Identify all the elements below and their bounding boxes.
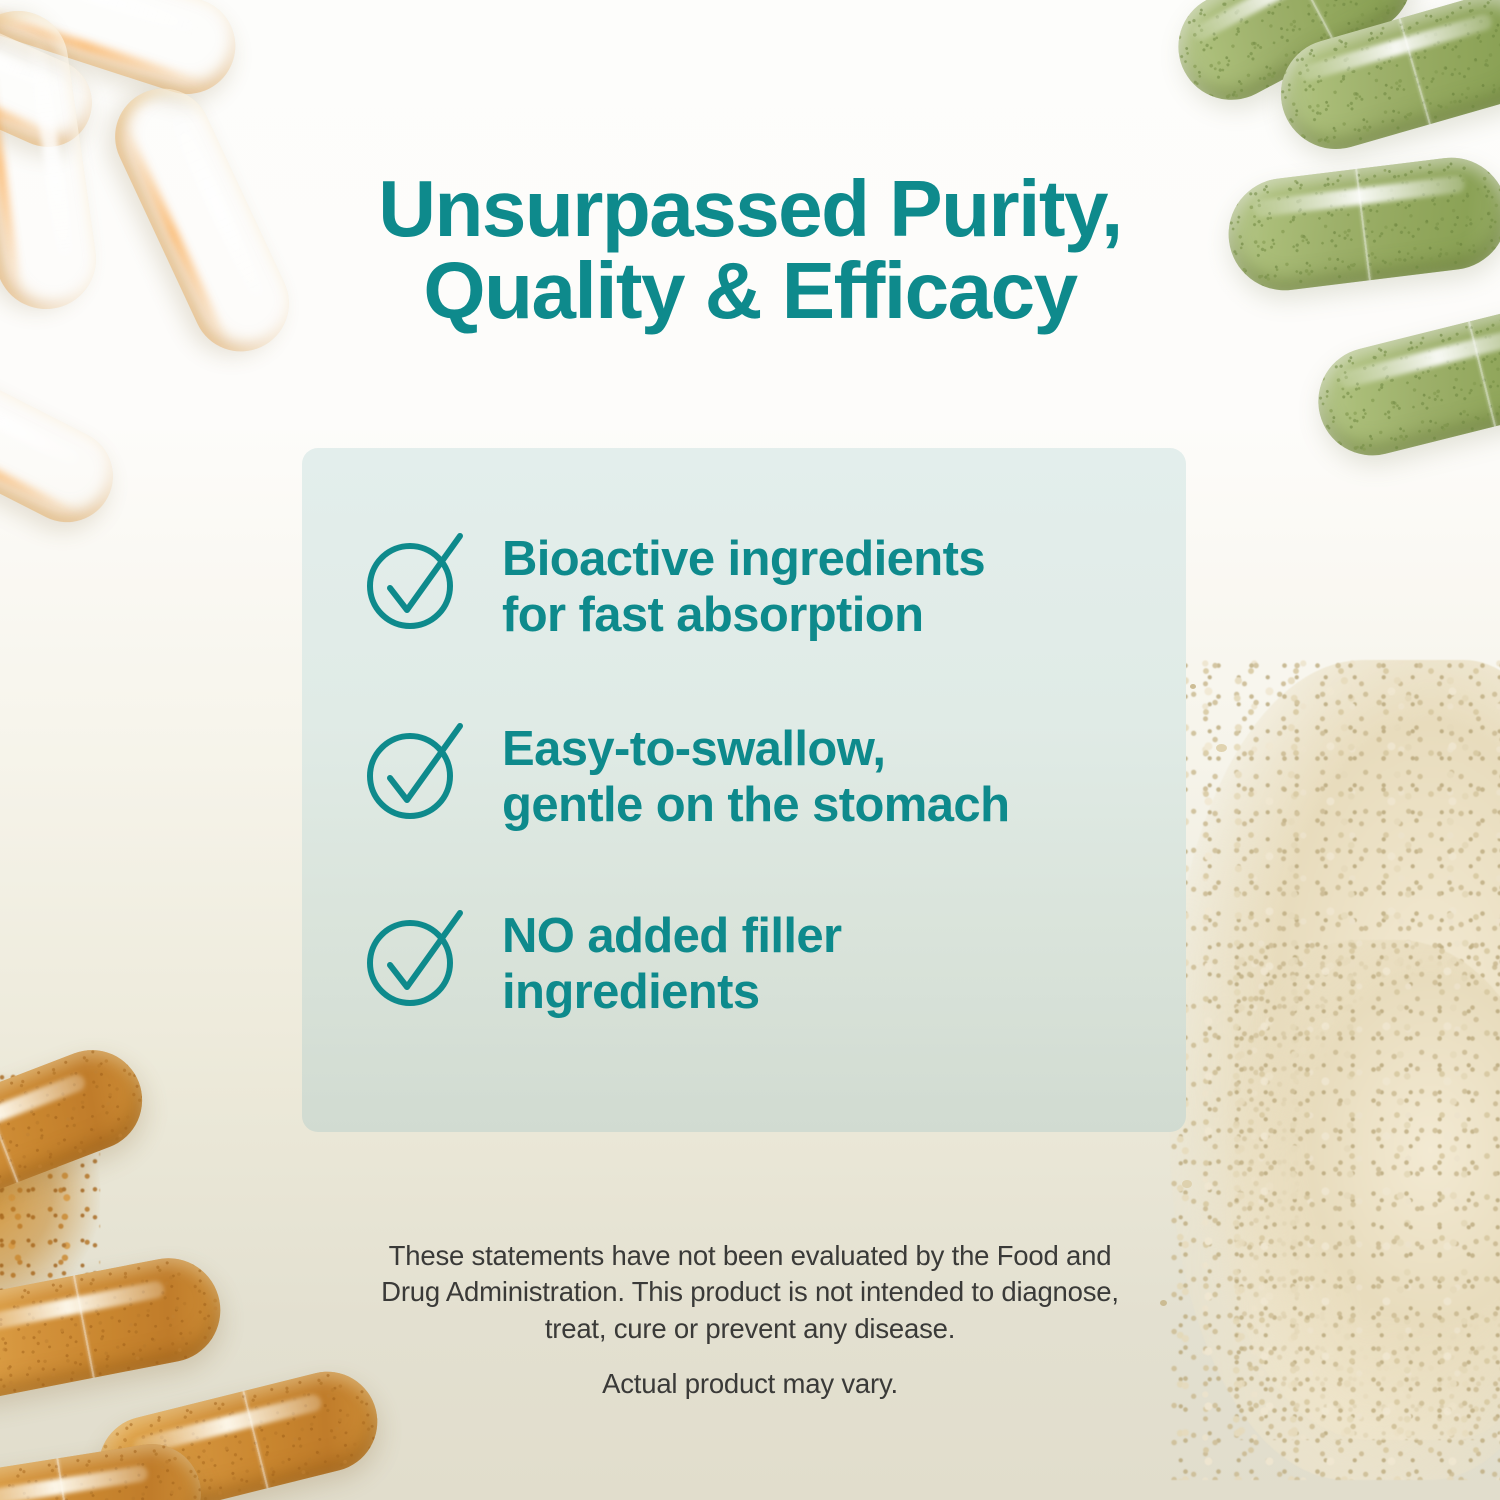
benefit-line-2: ingredients (502, 965, 842, 1021)
benefit-label: Easy-to-swallow, gentle on the stomach (502, 716, 1009, 834)
benefit-line-1: NO added filler (502, 909, 842, 965)
capsule-seam (242, 1391, 268, 1489)
powder-mass (1226, 940, 1500, 1440)
softgel-capsule (0, 338, 129, 538)
powder-speck (8, 1086, 17, 1094)
capsule-seam (1468, 321, 1496, 426)
softgel-capsule (0, 0, 106, 161)
benefit-line-1: Easy-to-swallow, (502, 722, 1009, 778)
benefit-item: NO added filler ingredients (362, 903, 1162, 1021)
headline-line-1: Unsurpassed Purity, (240, 168, 1260, 250)
check-circle-icon (362, 720, 466, 824)
capsule-powder-texture (1268, 0, 1500, 162)
check-circle-icon (362, 530, 466, 634)
powder-speck (1216, 744, 1227, 752)
benefit-item: Bioactive ingredients for fast absorptio… (362, 526, 1162, 644)
capsule-seam (56, 1458, 73, 1500)
fda-disclaimer: These statements have not been evaluated… (0, 1238, 1500, 1347)
page-title: Unsurpassed Purity, Quality & Efficacy (0, 168, 1500, 333)
capsule-powder-texture (0, 1036, 157, 1229)
benefit-label: Bioactive ingredients for fast absorptio… (502, 526, 985, 644)
check-circle-icon (362, 907, 466, 1011)
benefit-line-2: gentle on the stomach (502, 778, 1009, 834)
powder-speck (46, 1114, 53, 1120)
capsule-powder-texture (0, 1437, 208, 1500)
capsule-seam (1399, 18, 1431, 124)
headline-line-2: Quality & Efficacy (240, 250, 1260, 332)
turmeric-capsule (0, 1437, 208, 1500)
benefits-panel: Bioactive ingredients for fast absorptio… (302, 448, 1186, 1132)
capsule-seam (0, 1089, 18, 1183)
promo-image-canvas: Unsurpassed Purity, Quality & Efficacy B… (0, 0, 1500, 1500)
powder-speck (1182, 1180, 1192, 1188)
disclaimer-line-2: Drug Administration. This product is not… (340, 1274, 1160, 1310)
powder-speck (1190, 684, 1196, 689)
capsule-seam (1288, 0, 1340, 50)
disclaimer-line-1: These statements have not been evaluated… (340, 1238, 1160, 1274)
capsule-powder-texture (1160, 0, 1431, 118)
herbal-capsule (1160, 0, 1431, 118)
powder-grain-texture (1170, 660, 1500, 1480)
powder-grain-texture (1226, 940, 1500, 1440)
benefit-line-2: for fast absorption (502, 588, 985, 644)
powder-mass (1170, 660, 1500, 1480)
herbal-capsule (1268, 0, 1500, 162)
turmeric-capsule (0, 1036, 157, 1229)
benefit-line-1: Bioactive ingredients (502, 532, 985, 588)
product-variance-note: Actual product may vary. (0, 1368, 1500, 1400)
benefit-label: NO added filler ingredients (502, 903, 842, 1021)
softgel-capsule (0, 0, 248, 106)
benefit-item: Easy-to-swallow, gentle on the stomach (362, 716, 1162, 834)
disclaimer-line-3: treat, cure or prevent any disease. (340, 1311, 1160, 1347)
